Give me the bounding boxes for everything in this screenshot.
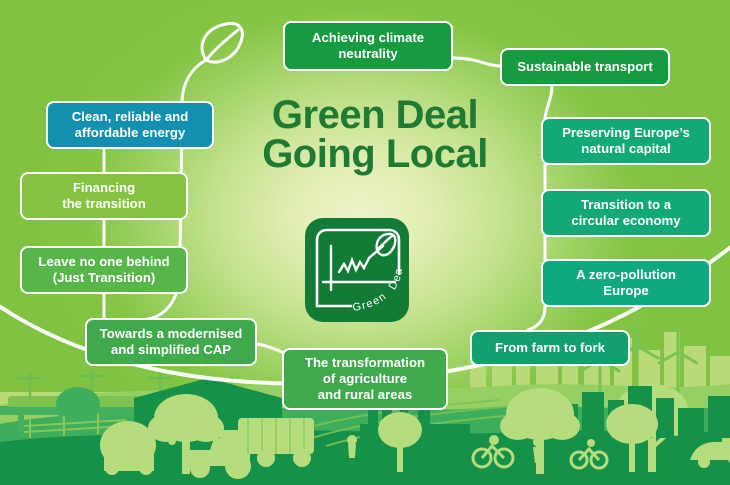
link-zero-farm bbox=[528, 307, 545, 330]
label-box-financing-the-transition[interactable]: Financing the transition bbox=[20, 172, 188, 220]
label-box-achieving-climate-neutrality[interactable]: Achieving climate neutrality bbox=[283, 21, 453, 71]
leaf-icon bbox=[202, 23, 242, 62]
green-deal-logo: Green Deal bbox=[305, 218, 409, 322]
label-box-clean-reliable-energy[interactable]: Clean, reliable and affordable energy bbox=[46, 101, 214, 149]
label-box-zero-pollution-europe[interactable]: A zero-pollution Europe bbox=[541, 259, 711, 307]
link-cap-transformation bbox=[257, 344, 282, 352]
link-top bbox=[453, 58, 500, 66]
label-box-modernised-simplified-cap[interactable]: Towards a modernised and simplified CAP bbox=[85, 318, 257, 366]
label-box-circular-economy[interactable]: Transition to a circular economy bbox=[541, 189, 711, 237]
title-line-2: Going Local bbox=[250, 135, 500, 174]
label-box-from-farm-to-fork[interactable]: From farm to fork bbox=[470, 330, 630, 366]
title-line-1: Green Deal bbox=[272, 93, 478, 137]
page-title: Green Deal Going Local bbox=[250, 96, 500, 174]
label-box-preserving-natural-capital[interactable]: Preserving Europe’s natural capital bbox=[541, 117, 711, 165]
leaf-stem bbox=[182, 60, 206, 104]
label-box-sustainable-transport[interactable]: Sustainable transport bbox=[500, 48, 670, 86]
green-deal-logo-svg: Green Deal bbox=[305, 218, 409, 322]
label-box-leave-no-one-behind[interactable]: Leave no one behind (Just Transition) bbox=[20, 246, 188, 294]
label-box-transformation-agriculture[interactable]: The transformation of agriculture and ru… bbox=[282, 348, 448, 410]
link-transport-preserving bbox=[545, 86, 552, 120]
green-deal-going-local-infographic: Green Deal Going Local bbox=[0, 0, 730, 485]
